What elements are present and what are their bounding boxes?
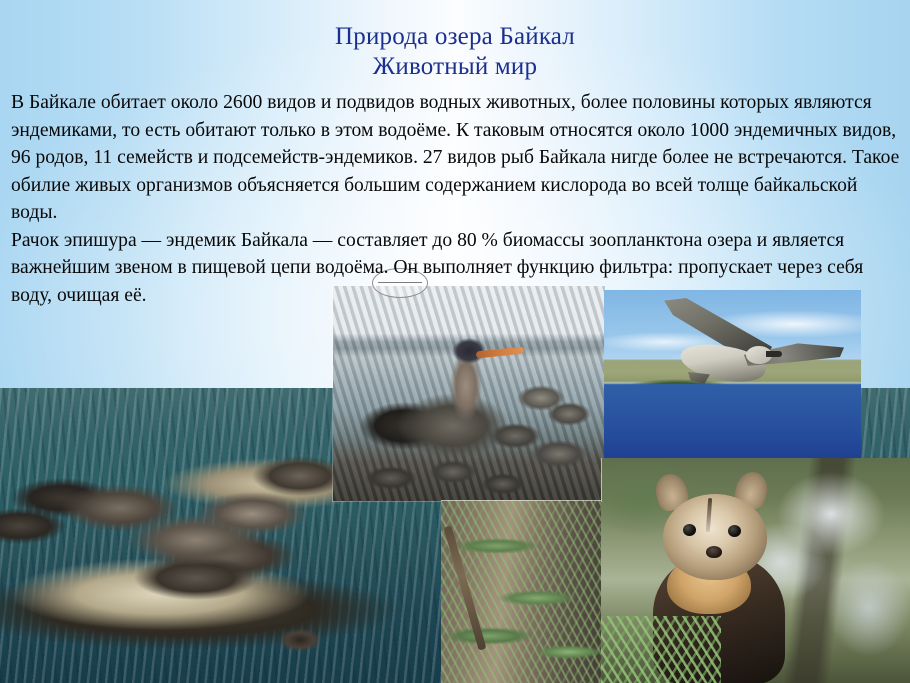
sable-foreground-pine-sprig: [601, 616, 721, 683]
gull-beak: [766, 351, 782, 357]
sable-photo: [601, 458, 910, 683]
body-paragraph-2: Рачок эпишура — эндемик Байкала — состав…: [11, 227, 901, 310]
photo-seam-horizontal: [441, 500, 601, 501]
merganser-duck-photo: [333, 286, 605, 501]
presentation-slide: Природа озера Байкал Животный мир В Байк…: [0, 0, 910, 683]
title-line-primary: Природа озера Байкал: [0, 22, 910, 52]
title-line-secondary: Животный мир: [0, 52, 910, 82]
body-paragraph-1: В Байкале обитает около 2600 видов и под…: [11, 89, 901, 227]
slide-title: Природа озера Байкал Животный мир: [0, 22, 910, 82]
slide-body-text: В Байкале обитает около 2600 видов и под…: [11, 89, 901, 309]
sable-head: [663, 494, 767, 580]
pine-branch-stem: [444, 525, 487, 650]
sable-eye-left: [683, 524, 696, 536]
sable-eye-right: [728, 525, 741, 537]
sable-nose: [706, 546, 722, 558]
photo-seam-vertical: [601, 458, 602, 502]
merganser-bill: [476, 347, 524, 359]
gull-in-flight-photo: [604, 290, 861, 462]
pine-branch-photo: [441, 500, 601, 683]
